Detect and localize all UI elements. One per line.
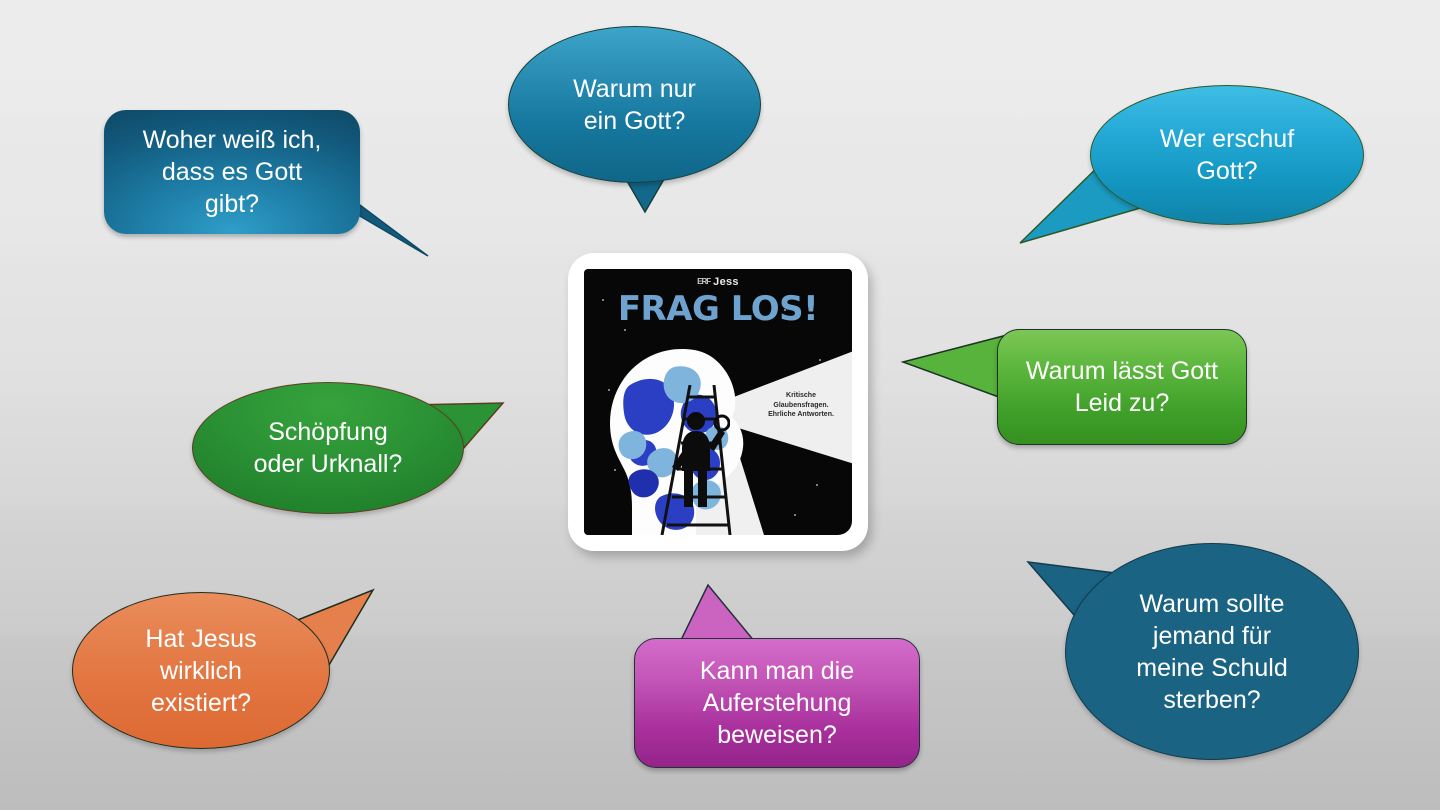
poster-subtitle: Kritische Glaubensfragen. Ehrliche Antwo… [758,391,844,420]
speech-bubble-schoepfung[interactable]: Schöpfung oder Urknall? [192,382,464,514]
speech-bubble-warum-nur[interactable]: Warum nur ein Gott? [508,26,761,183]
bubble-text: Warum lässt Gott Leid zu? [1016,355,1228,419]
bubble-text: Warum sollte jemand für meine Schuld ste… [1126,588,1297,716]
bubble-text: Warum nur ein Gott? [563,73,706,137]
speech-bubble-sterben[interactable]: Warum sollte jemand für meine Schuld ste… [1065,543,1359,760]
bubble-text: Schöpfung oder Urknall? [244,416,413,480]
bubble-text: Hat Jesus wirklich existiert? [135,623,266,719]
poster-artwork: ERFJess FRAG LOS! Kritische Glaubensfrag… [584,269,852,535]
bubble-text: Kann man die Auferstehung beweisen? [690,655,864,751]
speech-bubble-jesus[interactable]: Hat Jesus wirklich existiert? [72,592,330,749]
poster-brand-name: Jess [713,276,739,288]
speech-bubble-wer-erschuf[interactable]: Wer erschuf Gott? [1090,85,1364,225]
slide-canvas: Woher weiß ich, dass es Gott gibt? Warum… [0,0,1440,810]
poster-image[interactable]: ERFJess FRAG LOS! Kritische Glaubensfrag… [568,253,868,551]
bubble-text: Wer erschuf Gott? [1150,123,1304,187]
poster-white-frame: ERFJess FRAG LOS! Kritische Glaubensfrag… [568,253,868,551]
bubble-text: Woher weiß ich, dass es Gott gibt? [133,124,332,220]
person-with-magnifier-icon [670,409,730,509]
poster-brand: ERFJess [584,276,852,288]
poster-title: FRAG LOS! [584,289,852,329]
erf-logo-icon: ERF [697,277,710,286]
speech-bubble-woher[interactable]: Woher weiß ich, dass es Gott gibt? [104,110,360,234]
speech-bubble-leid[interactable]: Warum lässt Gott Leid zu? [997,329,1247,445]
speech-bubble-auferstehung[interactable]: Kann man die Auferstehung beweisen? [634,638,920,768]
